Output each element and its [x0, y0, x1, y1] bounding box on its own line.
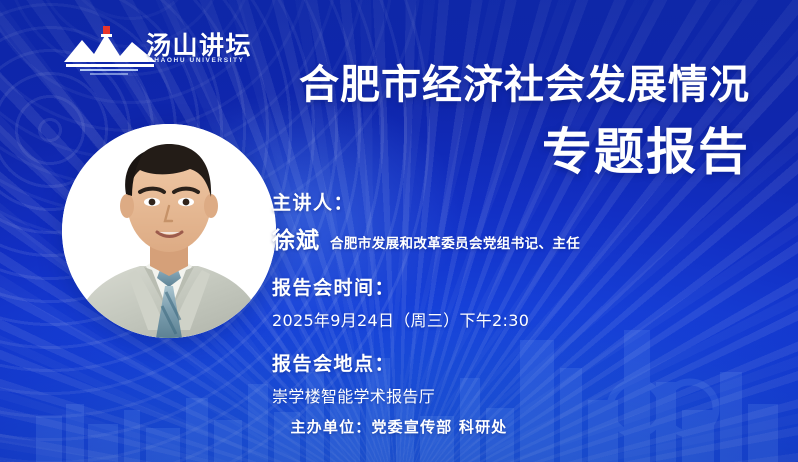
place-group: 报告会地点： 崇学楼智能学术报告厅 [272, 349, 772, 407]
time-value: 2025年9月24日（周三）下午2:30 [272, 307, 772, 331]
headline-line-2: 专题报告 [238, 124, 750, 180]
event-details: 主讲人： 徐斌 合肥市发展和改革委员会党组书记、主任 报告会时间： 2025年9… [272, 188, 772, 407]
speaker-label: 主讲人： [272, 188, 772, 215]
place-value: 崇学楼智能学术报告厅 [272, 383, 772, 407]
headline-line-1: 合肥市经济社会发展情况 [238, 62, 750, 108]
event-poster: 汤山讲坛 CHAOHU UNIVERSITY [0, 0, 798, 462]
mountain-pagoda-logo-icon [62, 26, 158, 78]
speaker-name: 徐斌 [272, 221, 320, 255]
headline: 合肥市经济社会发展情况 专题报告 [238, 62, 750, 180]
speaker-row: 徐斌 合肥市发展和改革委员会党组书记、主任 [272, 221, 772, 255]
place-label: 报告会地点： [272, 349, 772, 376]
time-group: 报告会时间： 2025年9月24日（周三）下午2:30 [272, 273, 772, 331]
speaker-title: 合肥市发展和改革委员会党组书记、主任 [330, 232, 580, 252]
logo-subtext: CHAOHU UNIVERSITY [148, 57, 245, 64]
time-label: 报告会时间： [272, 273, 772, 300]
organizer-footer: 主办单位：党委宣传部 科研处 [0, 416, 798, 437]
brand-logo: 汤山讲坛 CHAOHU UNIVERSITY [62, 24, 240, 80]
